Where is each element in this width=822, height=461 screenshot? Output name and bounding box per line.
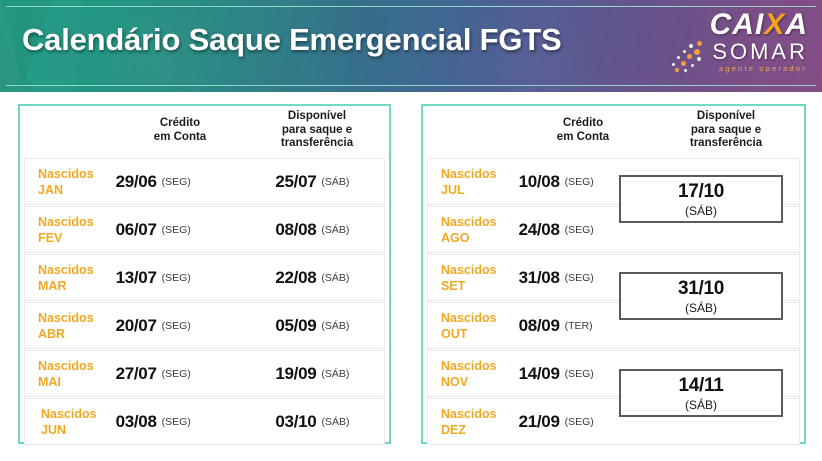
available-date-value: 19/09 [275,364,316,384]
month-label-line2: SET [441,278,465,294]
month-label-line1: Nascidos [441,358,497,374]
table-row: Nascidos MAR 13/07 (SEG) 22/08 (SÁB) [24,254,385,301]
merged-available-date-box: 14/11 (SÁB) [619,369,783,417]
month-label-line2: AGO [441,230,469,246]
month-label-line1: Nascidos [41,406,97,422]
credit-date-value: 29/06 [116,172,157,192]
month-label-line1: Nascidos [441,262,497,278]
credit-date-weekday: (SEG) [565,272,594,284]
merged-available-date-weekday: (SÁB) [685,398,717,412]
available-date-cell: 22/08 (SÁB) [241,255,384,300]
available-date-value: 08/08 [275,220,316,240]
merged-available-date-value: 14/11 [679,375,724,397]
available-date-value: 25/07 [275,172,316,192]
month-label-cell: Nascidos MAI [25,351,112,396]
available-date-cell: 08/08 (SÁB) [241,207,384,252]
month-label-cell: Nascidos DEZ [428,399,515,444]
credit-date-value: 20/07 [116,316,157,336]
column-header-month-left [20,106,115,158]
caixa-wordmark-post: A [785,8,808,41]
available-date-weekday: (SÁB) [321,176,349,188]
credit-date-cell: 27/07 (SEG) [112,351,241,396]
month-label-cell: Nascidos ABR [25,303,112,348]
table-row: Nascidos ABR 20/07 (SEG) 05/09 (SÁB) [24,302,385,349]
available-header-line1: Disponível [697,110,755,124]
month-label-cell: Nascidos JUL [428,159,515,204]
available-header-line2: para saque e [282,124,352,138]
credit-header-line2: em Conta [154,131,206,145]
month-label-line1: Nascidos [441,214,497,230]
month-label-line2: FEV [38,230,62,246]
column-header-credit-left: Crédito em Conta [115,106,245,158]
credit-date-weekday: (SEG) [162,320,191,332]
credit-date-value: 31/08 [519,268,560,288]
month-label-cell: Nascidos FEV [25,207,112,252]
merged-available-date-box: 17/10 (SÁB) [619,175,783,223]
credit-date-value: 06/07 [116,220,157,240]
credit-date-value: 14/09 [519,364,560,384]
month-label-line1: Nascidos [38,262,94,278]
available-header-line2: para saque e [691,124,761,138]
credit-date-value: 10/08 [519,172,560,192]
credit-date-cell: 29/06 (SEG) [112,159,241,204]
credit-date-value: 03/08 [116,412,157,432]
credit-date-weekday: (SEG) [162,224,191,236]
table-row: Nascidos FEV 06/07 (SEG) 08/08 (SÁB) [24,206,385,253]
available-date-cell: 19/09 (SÁB) [241,351,384,396]
month-label-line2: DEZ [441,422,466,438]
month-label-cell: Nascidos AGO [428,207,515,252]
credit-header-line1: Crédito [160,117,200,131]
credit-date-value: 24/08 [519,220,560,240]
available-date-value: 22/08 [275,268,316,288]
merged-available-date-value: 17/10 [678,181,724,203]
available-header-line1: Disponível [288,110,346,124]
month-label-cell: Nascidos JAN [25,159,112,204]
month-label-line1: Nascidos [38,310,94,326]
month-label-line2: ABR [38,326,65,342]
available-header-line3: transferência [281,137,353,151]
calendar-table-right: Crédito em Conta Disponível para saque e… [421,104,806,444]
month-label-line1: Nascidos [441,310,497,326]
table-row: Nascidos JUN 03/08 (SEG) 03/10 (SÁB) [24,398,385,445]
column-header-month-right [423,106,518,158]
table-header-row-right: Crédito em Conta Disponível para saque e… [423,106,804,158]
month-label-line2: JUN [41,422,66,438]
credit-date-cell: 20/07 (SEG) [112,303,241,348]
credit-date-weekday: (SEG) [565,416,594,428]
column-header-credit-right: Crédito em Conta [518,106,648,158]
table-row: Nascidos JAN 29/06 (SEG) 25/07 (SÁB) [24,158,385,205]
credit-date-weekday: (SEG) [162,272,191,284]
month-label-line1: Nascidos [441,406,497,422]
merged-available-date-box: 31/10 (SÁB) [619,272,783,320]
credit-date-weekday: (TER) [565,320,593,332]
available-date-weekday: (SÁB) [321,416,349,428]
available-date-cell: 03/10 (SÁB) [241,399,384,444]
somar-dots-icon [667,40,707,74]
column-header-available-right: Disponível para saque e transferência [648,106,804,158]
month-label-line2: NOV [441,374,468,390]
somar-tagline: agente operador [719,65,807,73]
column-header-available-left: Disponível para saque e transferência [245,106,389,158]
month-label-line2: JAN [38,182,63,198]
available-date-weekday: (SÁB) [321,224,349,236]
available-date-value: 05/09 [275,316,316,336]
table-header-row-left: Crédito em Conta Disponível para saque e… [20,106,389,158]
available-date-value: 03/10 [275,412,316,432]
available-date-weekday: (SÁB) [321,320,349,332]
page-header-banner: Calendário Saque Emergencial FGTS CAIXA … [0,0,822,92]
banner-top-rule [6,6,816,7]
credit-date-weekday: (SEG) [162,176,191,188]
month-label-cell: Nascidos MAR [25,255,112,300]
credit-date-value: 27/07 [116,364,157,384]
month-label-cell: Nascidos JUN [25,399,112,444]
available-date-weekday: (SÁB) [321,368,349,380]
calendar-table-left: Crédito em Conta Disponível para saque e… [18,104,391,444]
credit-date-weekday: (SEG) [162,368,191,380]
credit-date-value: 13/07 [116,268,157,288]
merged-available-date-value: 31/10 [678,278,724,300]
month-label-line2: OUT [441,326,467,342]
month-label-line2: MAI [38,374,61,390]
credit-date-cell: 06/07 (SEG) [112,207,241,252]
caixa-wordmark-x: X [764,8,785,41]
caixa-wordmark-pre: CAI [710,8,765,41]
page-title: Calendário Saque Emergencial FGTS [22,22,562,58]
month-label-line1: Nascidos [38,166,94,182]
banner-bottom-rule [6,85,816,86]
month-label-cell: Nascidos OUT [428,303,515,348]
available-date-cell: 05/09 (SÁB) [241,303,384,348]
month-label-line1: Nascidos [38,358,94,374]
month-label-line1: Nascidos [38,214,94,230]
credit-date-weekday: (SEG) [565,176,594,188]
caixa-somar-logo: CAIXA SOMAR agente operador [663,10,808,82]
somar-wordmark: SOMAR [712,41,808,63]
table-row: Nascidos MAI 27/07 (SEG) 19/09 (SÁB) [24,350,385,397]
credit-date-weekday: (SEG) [565,368,594,380]
merged-available-date-weekday: (SÁB) [685,204,717,218]
month-label-cell: Nascidos SET [428,255,515,300]
available-header-line3: transferência [690,137,762,151]
month-label-line1: Nascidos [441,166,497,182]
month-label-line2: MAR [38,278,66,294]
credit-header-line1: Crédito [563,117,603,131]
credit-date-cell: 13/07 (SEG) [112,255,241,300]
credit-date-weekday: (SEG) [162,416,191,428]
credit-date-weekday: (SEG) [565,224,594,236]
merged-available-date-weekday: (SÁB) [685,301,717,315]
month-label-cell: Nascidos NOV [428,351,515,396]
month-label-line2: JUL [441,182,465,198]
credit-header-line2: em Conta [557,131,609,145]
available-date-weekday: (SÁB) [321,272,349,284]
credit-date-value: 21/09 [519,412,560,432]
credit-date-value: 08/09 [519,316,560,336]
caixa-wordmark: CAIXA [710,10,808,40]
credit-date-cell: 03/08 (SEG) [112,399,241,444]
available-date-cell: 25/07 (SÁB) [241,159,384,204]
